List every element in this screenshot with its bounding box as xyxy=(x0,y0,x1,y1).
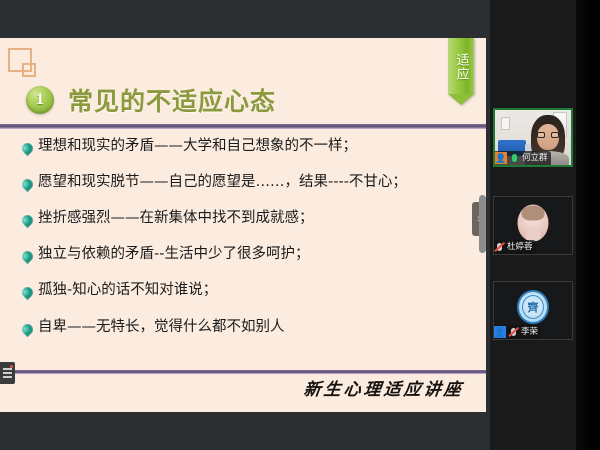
microphone-muted-icon xyxy=(508,326,519,338)
toolbar-line-icon xyxy=(3,376,12,378)
shared-screen-stage: 适应 1 常见的不适应心态 理想和现实的矛盾——大学和自己想象的不一样； 愿望和… xyxy=(0,0,486,450)
shield-bullet-icon xyxy=(20,285,36,301)
avatar xyxy=(518,205,549,242)
window-right-gutter xyxy=(576,0,600,450)
participant-name-bar: 👤 何立群 xyxy=(495,151,551,165)
toolbar-line-icon xyxy=(3,372,12,374)
slide-footer-calligraphy: 新生心理适应讲座 xyxy=(302,375,465,400)
person-icon: 👤 xyxy=(495,152,507,164)
section-banner-arrow-icon xyxy=(448,94,474,105)
list-item: 愿望和现实脱节——自己的愿望是……，结果----不甘心； xyxy=(22,174,472,191)
list-item-text: 愿望和现实脱节——自己的愿望是……，结果----不甘心； xyxy=(38,174,407,191)
shield-bullet-icon xyxy=(20,213,36,229)
glasses-lens-right xyxy=(551,132,559,138)
participant-name-bar: 👤 李荣 xyxy=(494,325,541,339)
toolbar-line-icon xyxy=(3,368,12,370)
list-item-text: 自卑——无特长，觉得什么都不如别人 xyxy=(38,319,285,336)
microphone-icon xyxy=(509,152,520,164)
list-item: 自卑——无特长，觉得什么都不如别人 xyxy=(22,319,472,336)
participant-tile-active-speaker[interactable]: 👤 何立群 xyxy=(493,108,573,167)
list-item-text: 挫折感强烈——在新集体中找不到成就感； xyxy=(38,210,314,227)
person-icon: 👤 xyxy=(494,326,506,338)
participant-name-bar: 杜婷蓉 xyxy=(494,240,536,254)
section-banner-label: 适应 xyxy=(454,53,467,81)
annotation-toolbar-chip[interactable] xyxy=(0,362,15,384)
slide-bottom-divider xyxy=(0,370,486,374)
participant-filmstrip: 👤 何立群 杜婷蓉 齊 👤 李荣 xyxy=(490,0,576,450)
stage-scrollbar[interactable] xyxy=(479,195,486,253)
title-divider xyxy=(0,124,486,129)
list-item: 理想和现实的矛盾——大学和自己想象的不一样； xyxy=(22,138,472,155)
shield-bullet-icon xyxy=(20,321,36,337)
participant-tile[interactable]: 杜婷蓉 xyxy=(493,196,573,255)
participant-name: 何立群 xyxy=(522,154,548,163)
decorative-square-small xyxy=(22,63,36,77)
list-item-text: 孤独-知心的话不知对谁说； xyxy=(38,282,217,299)
university-seal-avatar: 齊 xyxy=(517,290,549,324)
shield-bullet-icon xyxy=(20,141,36,157)
shield-bullet-icon xyxy=(20,177,36,193)
list-item: 孤独-知心的话不知对谁说； xyxy=(22,282,472,299)
seal-glyph: 齊 xyxy=(522,295,544,319)
avatar-hair xyxy=(522,206,545,221)
list-item: 挫折感强烈——在新集体中找不到成就感； xyxy=(22,210,472,227)
presentation-slide: 适应 1 常见的不适应心态 理想和现实的矛盾——大学和自己想象的不一样； 愿望和… xyxy=(0,38,486,412)
glasses-icon xyxy=(537,132,559,138)
section-number-badge: 1 xyxy=(26,86,54,114)
wall-art-decor xyxy=(501,117,510,130)
section-banner-body: 适应 xyxy=(448,38,474,94)
slide-title-row: 1 常见的不适应心态 xyxy=(26,82,276,118)
page-title: 常见的不适应心态 xyxy=(68,82,276,118)
glasses-lens-left xyxy=(537,132,545,138)
zoom-screen-share-window: 适应 1 常见的不适应心态 理想和现实的矛盾——大学和自己想象的不一样； 愿望和… xyxy=(0,0,600,450)
list-item-text: 理想和现实的矛盾——大学和自己想象的不一样； xyxy=(38,138,357,155)
list-item: 独立与依赖的矛盾--生活中少了很多呵护； xyxy=(22,246,472,263)
list-item-text: 独立与依赖的矛盾--生活中少了很多呵护； xyxy=(38,246,309,263)
notification-dot-icon xyxy=(10,365,13,368)
participant-name: 李荣 xyxy=(521,328,538,337)
shield-bullet-icon xyxy=(20,249,36,265)
participant-name: 杜婷蓉 xyxy=(507,243,533,252)
participant-tile[interactable]: 齊 👤 李荣 xyxy=(493,281,573,340)
bullet-list: 理想和现实的矛盾——大学和自己想象的不一样； 愿望和现实脱节——自己的愿望是……… xyxy=(22,138,472,336)
section-banner-tab: 适应 xyxy=(448,38,474,105)
microphone-muted-icon xyxy=(494,241,505,253)
